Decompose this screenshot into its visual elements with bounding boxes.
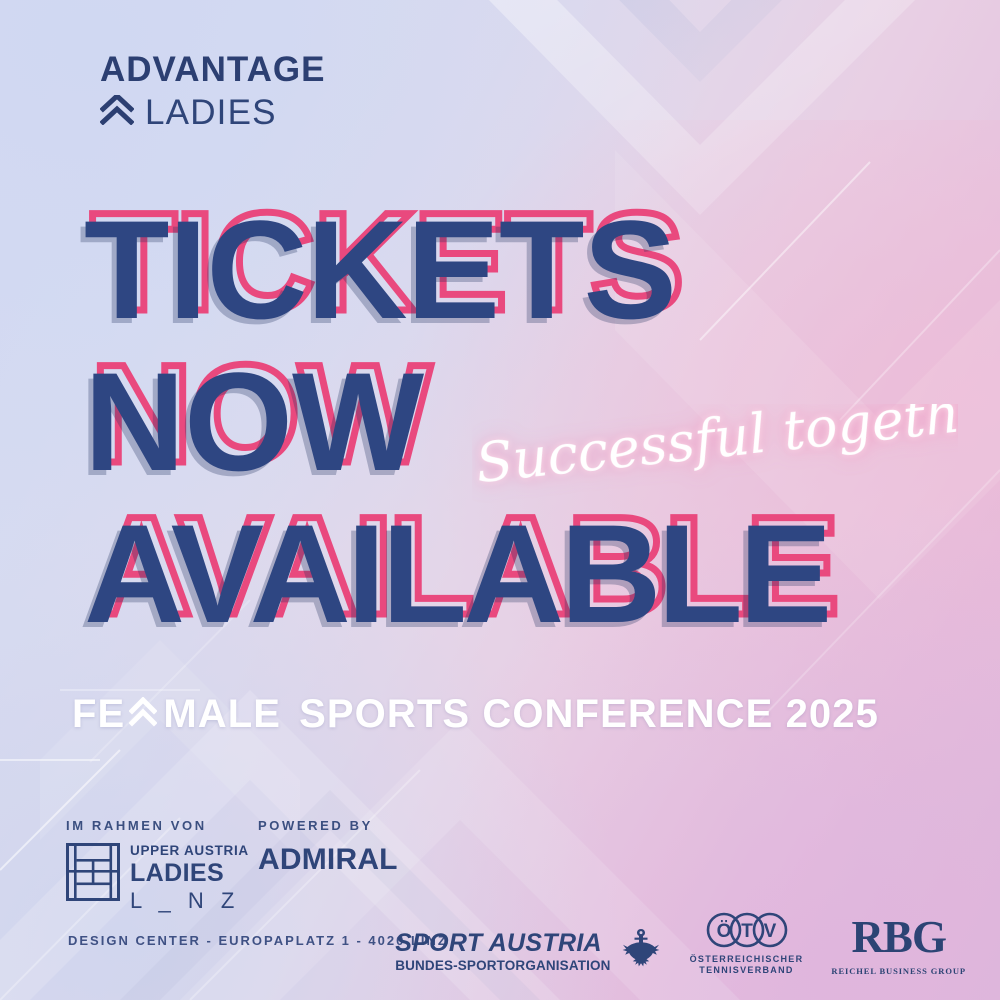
brand-logo: ADVANTAGE LADIES: [100, 52, 325, 130]
svg-text:NOW: NOW: [84, 343, 424, 500]
sport-austria-logo: SPORT AUSTRIA BUNDES-SPORTORGANISATION: [395, 927, 661, 976]
subtitle-fe: FE: [72, 692, 125, 737]
ual-upper-austria: UPPER AUSTRIA: [130, 844, 249, 858]
rbg-logo: RBG REICHEL BUSINESS GROUP: [831, 916, 966, 976]
rbg-monogram: RBG: [851, 916, 946, 959]
partner-logo-row: SPORT AUSTRIA BUNDES-SPORTORGANISATION: [395, 910, 966, 977]
ual-ladies: LADIES: [130, 861, 249, 886]
subtitle-conference: SPORTS CONFERENCE 2025: [299, 692, 879, 737]
rbg-subtitle: REICHEL BUSINESS GROUP: [831, 966, 966, 976]
ual-linz: L _ N Z: [130, 890, 249, 912]
script-tagline: Successful together: [472, 404, 958, 524]
brand-ladies: LADIES: [145, 95, 277, 130]
svg-text:T: T: [741, 921, 753, 942]
conference-subtitle: FE MALE SPORTS CONFERENCE 2025: [72, 692, 879, 737]
tennis-court-icon: [66, 843, 120, 906]
svg-text:TICKETS: TICKETS: [84, 191, 676, 348]
venue-address: DESIGN CENTER - EUROPAPLATZ 1 - 4020 LIN…: [68, 933, 448, 948]
svg-text:V: V: [763, 921, 776, 942]
svg-text:Ö: Ö: [716, 921, 731, 942]
oetv-line-2: TENNISVERBAND: [699, 965, 793, 975]
upper-austria-ladies-linz-logo: UPPER AUSTRIA LADIES L _ N Z: [66, 843, 249, 912]
poster-canvas: ADVANTAGE LADIES TICKETS TICKETS TICKETS…: [0, 0, 1000, 1000]
three-circles-icon: Ö T V: [699, 910, 795, 950]
oetv-line-1: ÖSTERREICHISCHER: [690, 954, 804, 964]
brand-advantage: ADVANTAGE: [100, 52, 325, 87]
subtitle-male: MALE: [163, 692, 281, 737]
headline-line-1: TICKETS TICKETS TICKETS: [0, 196, 1000, 348]
admiral-logo: ADMIRAL: [258, 845, 398, 875]
double-chevron-up-icon: [100, 95, 134, 130]
double-chevron-up-icon: [129, 692, 157, 737]
eagle-emblem-icon: [620, 927, 662, 976]
sponsor-block-powered: POWERED BY ADMIRAL: [258, 818, 398, 875]
sport-austria-name: SPORT AUSTRIA: [395, 931, 610, 956]
oetv-subtitle: ÖSTERREICHISCHER TENNISVERBAND: [690, 954, 804, 977]
sponsor-block-rahmen: IM RAHMEN VON UPPER AUSTRIA LADIES L _ N…: [66, 818, 249, 912]
sport-austria-subtitle: BUNDES-SPORTORGANISATION: [395, 959, 610, 973]
powered-label: POWERED BY: [258, 818, 398, 833]
rahmen-label: IM RAHMEN VON: [66, 818, 249, 833]
oetv-logo: Ö T V ÖSTERREICHISCHER TENNISVERBAND: [690, 910, 804, 977]
svg-text:Successful together: Successful together: [473, 404, 958, 495]
